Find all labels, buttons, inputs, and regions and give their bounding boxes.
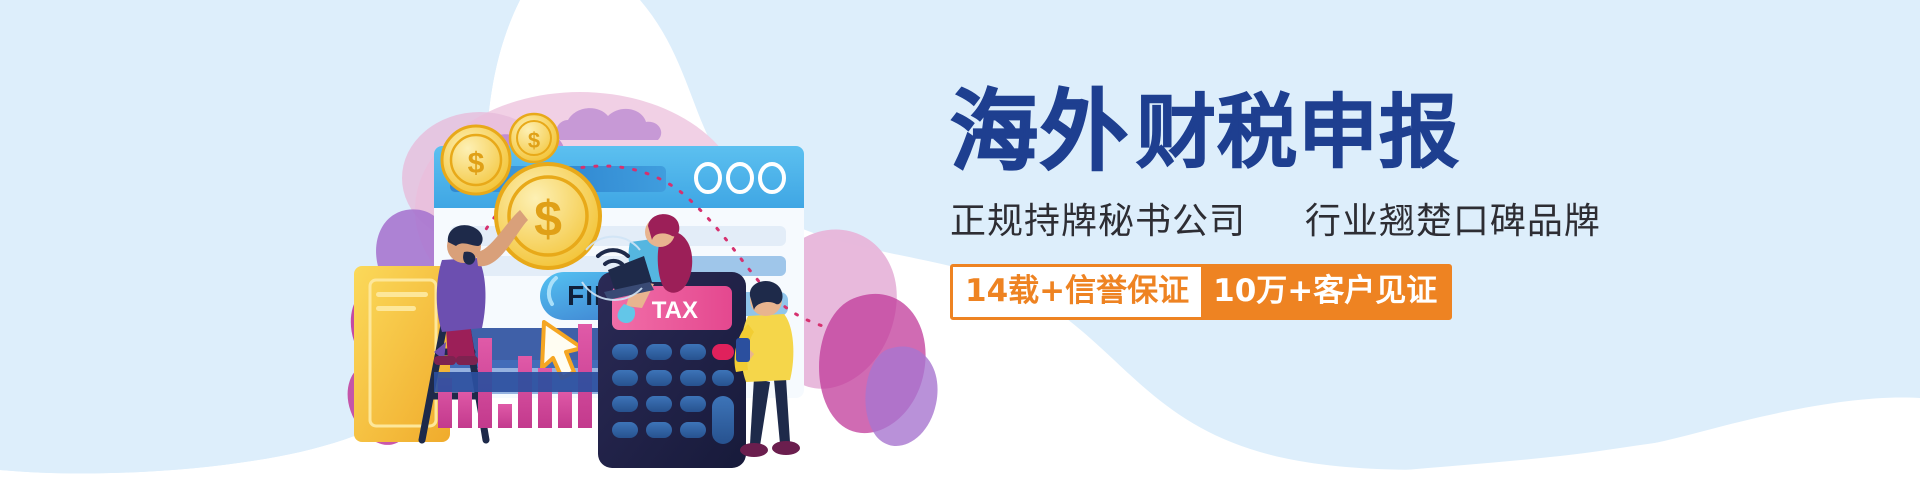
headline-secondary: 财税申报	[1136, 93, 1460, 173]
hero-illustration: $ $ $	[330, 60, 950, 480]
svg-text:$: $	[528, 128, 540, 153]
coin: $	[510, 114, 558, 162]
status-badge-experience: 14载+信誉保证	[953, 267, 1201, 317]
badge-group: 14载+信誉保证 10万+客户见证	[950, 264, 1452, 320]
phone-icon	[736, 338, 750, 362]
page-title: 海外 财税申报	[950, 72, 1570, 176]
coin: $	[442, 126, 510, 194]
copy-block: 海外 财税申报 正规持牌秘书公司 行业翘楚口碑品牌 14载+信誉保证 10万+客…	[950, 72, 1570, 320]
subtitle: 正规持牌秘书公司 行业翘楚口碑品牌	[950, 192, 1570, 244]
subtitle-right: 行业翘楚口碑品牌	[1305, 201, 1601, 242]
headline-primary: 海外	[950, 88, 1130, 176]
promo-banner: $ $ $	[0, 0, 1920, 500]
status-badge-clients: 10万+客户见证	[1201, 267, 1449, 317]
calculator-display-label: TAX	[652, 297, 698, 324]
coin-symbol: $	[468, 147, 485, 180]
calculator: TAX	[598, 272, 746, 468]
subtitle-left: 正规持牌秘书公司	[950, 201, 1246, 242]
svg-text:$: $	[534, 191, 562, 247]
coin: $	[496, 164, 600, 268]
